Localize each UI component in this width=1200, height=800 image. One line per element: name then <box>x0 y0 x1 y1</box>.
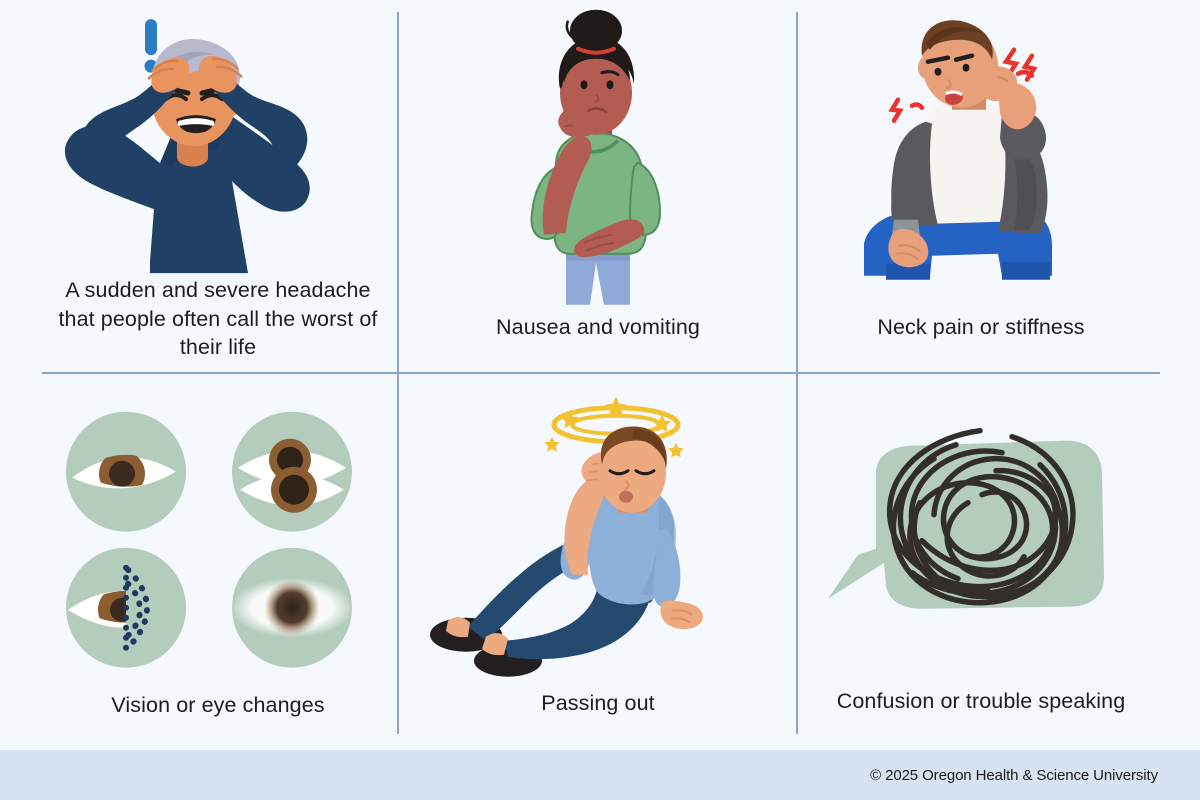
nausea-hair-bun <box>570 10 622 52</box>
symptom-panel-headache: A sudden and severe headache that people… <box>42 4 394 368</box>
symptom-caption-confusion: Confusion or trouble speaking <box>816 687 1145 742</box>
symptom-grid: A sudden and severe headache that people… <box>0 0 1200 750</box>
neck-tshirt <box>925 100 1007 224</box>
illustration-nausea <box>404 4 792 313</box>
symptom-panel-nausea: Nausea and vomiting <box>404 4 792 368</box>
infographic-root: A sudden and severe headache that people… <box>0 0 1200 800</box>
symptom-caption-passing-out: Passing out <box>420 689 777 742</box>
symptom-panel-passing-out: Passing out <box>404 380 792 742</box>
symptom-caption-neck-pain: Neck pain or stiffness <box>816 313 1145 368</box>
illustration-passing-out <box>404 380 792 689</box>
symptom-panel-vision: Vision or eye changes <box>42 380 394 742</box>
partial-vision-loss-icon <box>66 548 186 668</box>
footer-bar: © 2025 Oregon Health & Science Universit… <box>0 750 1200 800</box>
blurry-vision-icon <box>230 548 354 668</box>
droopy-eyelid-icon <box>66 412 186 532</box>
symptom-caption-headache: A sudden and severe headache that people… <box>56 276 380 368</box>
double-vision-icon <box>232 412 352 532</box>
symptom-caption-vision: Vision or eye changes <box>56 691 380 742</box>
illustration-confusion <box>802 380 1160 687</box>
illustration-vision-icons <box>42 380 394 691</box>
illustration-neck-pain <box>802 4 1160 313</box>
divider-horizontal <box>42 372 1160 374</box>
symptom-caption-nausea: Nausea and vomiting <box>420 313 777 368</box>
copyright-text: © 2025 Oregon Health & Science Universit… <box>870 767 1200 784</box>
illustration-headache <box>42 4 394 280</box>
symptom-panel-confusion: Confusion or trouble speaking <box>802 380 1160 742</box>
symptom-panel-neck-pain: Neck pain or stiffness <box>802 4 1160 368</box>
